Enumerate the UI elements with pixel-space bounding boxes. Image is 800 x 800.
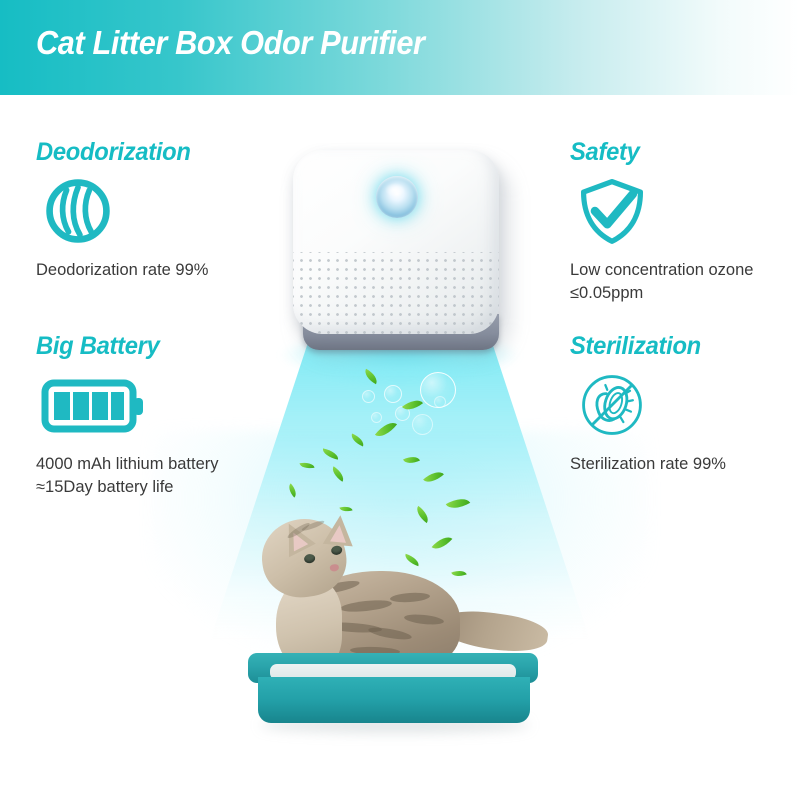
no-bacteria-icon	[574, 369, 650, 441]
odor-purifier-device	[285, 146, 515, 356]
device-body	[293, 150, 499, 334]
feature-description: 4000 mAh lithium battery ≈15Day battery …	[36, 453, 286, 500]
bubble	[362, 390, 375, 403]
litter-box	[248, 653, 538, 725]
cat-eye	[331, 545, 343, 556]
feature-safety: Safety Low concentration ozone ≤0.05ppm	[570, 138, 795, 306]
bubble	[434, 396, 446, 408]
cat-stripe	[368, 625, 413, 642]
feature-description: Sterilization rate 99%	[570, 453, 795, 476]
cat-eye	[304, 553, 316, 564]
bubble	[412, 414, 433, 435]
feature-sterilization: Sterilization Sterilization rate 99%	[570, 332, 795, 476]
cat-stripe	[390, 592, 431, 604]
power-button-icon[interactable]	[376, 176, 418, 218]
litter-box-front	[258, 677, 530, 723]
cat-stripe	[340, 598, 393, 613]
feature-title: Sterilization	[570, 332, 784, 361]
shield-check-icon	[574, 175, 650, 247]
feature-deodorization: Deodorization Deodorization rate 99%	[36, 138, 286, 282]
feature-title: Deodorization	[36, 138, 274, 167]
pet-scene	[240, 505, 570, 755]
battery-full-icon	[40, 369, 148, 441]
cat-nose	[329, 564, 339, 572]
feature-big-battery: Big Battery 4000 mAh lithium battery ≈15…	[36, 332, 286, 500]
product-infographic: Cat Litter Box Odor Purifier Deodorizati…	[0, 0, 800, 800]
odor-waves-circle-icon	[40, 175, 116, 247]
feature-description: Deodorization rate 99%	[36, 259, 286, 282]
feature-title: Big Battery	[36, 332, 274, 361]
feature-description: Low concentration ozone ≤0.05ppm	[570, 259, 795, 306]
page-title: Cat Litter Box Odor Purifier	[36, 24, 425, 62]
feature-title: Safety	[570, 138, 784, 167]
cat-stripe	[404, 613, 445, 626]
bubble	[371, 412, 382, 423]
header-banner: Cat Litter Box Odor Purifier	[0, 0, 800, 95]
cat-ear	[323, 514, 356, 547]
bubble	[384, 385, 402, 403]
air-grille	[293, 252, 499, 334]
